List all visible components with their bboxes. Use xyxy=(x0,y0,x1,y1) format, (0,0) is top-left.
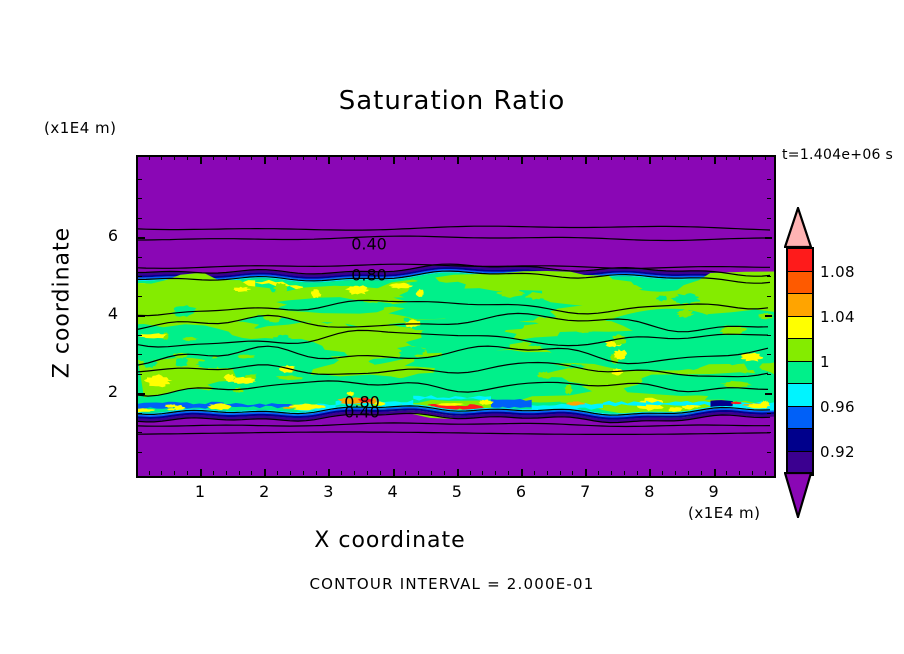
x-axis-minor-tick-top xyxy=(226,156,227,160)
page-title: Saturation Ratio xyxy=(0,86,904,116)
colorbar-band xyxy=(788,339,812,362)
x-axis-minor-tick-top xyxy=(572,156,573,160)
colorbar-tick-label: 0.96 xyxy=(820,398,855,416)
x-axis-minor-tick xyxy=(405,471,406,475)
x-axis-minor-tick-top xyxy=(547,156,548,160)
x-axis-minor-tick xyxy=(752,471,753,475)
x-axis-minor-tick-top xyxy=(624,156,625,160)
x-axis-minor-tick xyxy=(572,471,573,475)
x-axis-tick-label: 7 xyxy=(565,482,605,501)
x-axis-minor-tick-top xyxy=(239,156,240,160)
x-axis-minor-tick-top xyxy=(752,156,753,160)
x-axis-minor-tick xyxy=(495,471,496,475)
x-axis-minor-tick-top xyxy=(534,156,535,160)
y-axis-minor-tick xyxy=(138,257,142,258)
x-axis-minor-tick-top xyxy=(765,156,766,160)
x-axis-minor-tick-top xyxy=(675,156,676,160)
y-axis-minor-tick-right xyxy=(767,218,771,219)
x-axis-minor-tick-top xyxy=(303,156,304,160)
y-axis-minor-tick-right xyxy=(767,257,771,258)
contour-line-label: 0.80 xyxy=(351,266,387,285)
x-axis-tick-top xyxy=(393,157,395,164)
y-axis-minor-tick-right xyxy=(767,354,771,355)
colorbar-band xyxy=(788,407,812,430)
x-axis-minor-tick xyxy=(290,471,291,475)
colorbar-tick-label: 1.04 xyxy=(820,308,855,326)
y-axis-minor-tick-right xyxy=(767,179,771,180)
x-axis-minor-tick xyxy=(508,471,509,475)
x-axis-minor-tick-top xyxy=(174,156,175,160)
colorbar-tick-label: 1 xyxy=(820,353,830,371)
colorbar-band xyxy=(788,249,812,272)
x-axis-minor-tick xyxy=(341,471,342,475)
x-axis-minor-tick-top xyxy=(213,156,214,160)
x-axis-minor-tick xyxy=(187,471,188,475)
x-axis-minor-tick xyxy=(611,471,612,475)
x-axis-tick-top xyxy=(328,157,330,164)
x-axis-minor-tick xyxy=(226,471,227,475)
x-axis-minor-tick xyxy=(547,471,548,475)
x-axis-tick xyxy=(457,469,459,476)
x-axis-minor-tick xyxy=(161,471,162,475)
y-axis-title: Z coordinate xyxy=(50,193,75,413)
x-axis-minor-tick-top xyxy=(251,156,252,160)
x-axis-minor-tick-top xyxy=(316,156,317,160)
x-axis-minor-tick-top xyxy=(611,156,612,160)
y-axis-minor-tick xyxy=(138,374,142,375)
y-axis-minor-tick xyxy=(138,452,142,453)
x-axis-minor-tick xyxy=(675,471,676,475)
x-axis-minor-tick-top xyxy=(560,156,561,160)
x-axis-minor-tick-top xyxy=(161,156,162,160)
y-axis-tick-label: 2 xyxy=(78,382,118,401)
y-axis-minor-tick-right xyxy=(767,374,771,375)
contour-plot-figure: Saturation Ratio (x1E4 m) (x1E4 m) t=1.4… xyxy=(0,0,904,654)
y-axis-minor-tick-right xyxy=(767,198,771,199)
colorbar-band xyxy=(788,452,812,475)
colorbar-bottom-cap xyxy=(784,472,812,518)
x-axis-tick xyxy=(328,469,330,476)
y-axis-tick xyxy=(138,237,145,239)
y-axis-unit-label: (x1E4 m) xyxy=(44,119,117,137)
x-axis-minor-tick xyxy=(534,471,535,475)
x-axis-minor-tick-top xyxy=(637,156,638,160)
colorbar-tick-label: 0.92 xyxy=(820,443,855,461)
x-axis-minor-tick xyxy=(637,471,638,475)
x-axis-minor-tick-top xyxy=(444,156,445,160)
colorbar xyxy=(786,247,814,476)
x-axis-minor-tick-top xyxy=(354,156,355,160)
x-axis-minor-tick-top xyxy=(380,156,381,160)
y-axis-minor-tick-right xyxy=(767,296,771,297)
colorbar-band xyxy=(788,429,812,452)
x-axis-tick-label: 9 xyxy=(694,482,734,501)
x-axis-tick xyxy=(200,469,202,476)
x-axis-minor-tick-top xyxy=(662,156,663,160)
x-axis-minor-tick xyxy=(316,471,317,475)
colorbar-band xyxy=(788,317,812,340)
colorbar-top-cap xyxy=(784,207,812,248)
x-axis-minor-tick-top xyxy=(701,156,702,160)
x-axis-tick-label: 6 xyxy=(501,482,541,501)
x-axis-minor-tick xyxy=(149,471,150,475)
x-axis-tick-label: 2 xyxy=(244,482,284,501)
x-axis-minor-tick xyxy=(418,471,419,475)
x-axis-unit-label: (x1E4 m) xyxy=(688,504,761,522)
x-axis-minor-tick-top xyxy=(290,156,291,160)
x-axis-minor-tick xyxy=(560,471,561,475)
x-axis-minor-tick xyxy=(367,471,368,475)
y-axis-minor-tick xyxy=(138,354,142,355)
y-axis-tick-label: 6 xyxy=(78,226,118,245)
x-axis-minor-tick xyxy=(482,471,483,475)
y-axis-tick xyxy=(138,315,145,317)
x-axis-minor-tick xyxy=(354,471,355,475)
x-axis-tick xyxy=(714,469,716,476)
colorbar-tick-label: 1.08 xyxy=(820,263,855,281)
x-axis-minor-tick-top xyxy=(495,156,496,160)
x-axis-tick xyxy=(585,469,587,476)
x-axis-minor-tick xyxy=(726,471,727,475)
y-axis-minor-tick xyxy=(138,335,142,336)
x-axis-minor-tick-top xyxy=(341,156,342,160)
x-axis-minor-tick xyxy=(444,471,445,475)
y-axis-minor-tick xyxy=(138,179,142,180)
contour-line-label: 0.40 xyxy=(344,403,380,422)
y-axis-tick-right xyxy=(765,315,772,317)
y-axis-minor-tick xyxy=(138,218,142,219)
x-axis-minor-tick xyxy=(277,471,278,475)
contour-field xyxy=(138,157,774,476)
x-axis-tick-top xyxy=(585,157,587,164)
x-axis-minor-tick-top xyxy=(149,156,150,160)
y-axis-minor-tick xyxy=(138,296,142,297)
x-axis-minor-tick xyxy=(739,471,740,475)
x-axis-minor-tick-top xyxy=(431,156,432,160)
x-axis-tick-top xyxy=(200,157,202,164)
y-axis-tick-right xyxy=(765,393,772,395)
x-axis-tick-top xyxy=(521,157,523,164)
x-axis-tick-top xyxy=(264,157,266,164)
x-axis-tick-label: 8 xyxy=(629,482,669,501)
x-axis-tick-top xyxy=(714,157,716,164)
contour-line-label: 0.40 xyxy=(351,235,387,254)
x-axis-tick-label: 1 xyxy=(180,482,220,501)
y-axis-minor-tick xyxy=(138,276,142,277)
x-axis-minor-tick xyxy=(624,471,625,475)
y-axis-tick xyxy=(138,393,145,395)
x-axis-minor-tick-top xyxy=(470,156,471,160)
x-axis-minor-tick xyxy=(765,471,766,475)
y-axis-tick-label: 4 xyxy=(78,304,118,323)
x-axis-minor-tick-top xyxy=(726,156,727,160)
x-axis-title: X coordinate xyxy=(0,528,780,553)
x-axis-tick xyxy=(393,469,395,476)
y-axis-minor-tick-right xyxy=(767,335,771,336)
x-axis-tick xyxy=(264,469,266,476)
x-axis-tick-label: 3 xyxy=(308,482,348,501)
x-axis-tick xyxy=(521,469,523,476)
x-axis-minor-tick xyxy=(598,471,599,475)
x-axis-minor-tick-top xyxy=(598,156,599,160)
y-axis-minor-tick-right xyxy=(767,432,771,433)
colorbar-band xyxy=(788,362,812,385)
x-axis-tick xyxy=(649,469,651,476)
x-axis-minor-tick xyxy=(213,471,214,475)
x-axis-minor-tick-top xyxy=(187,156,188,160)
x-axis-minor-tick xyxy=(470,471,471,475)
x-axis-minor-tick-top xyxy=(688,156,689,160)
y-axis-minor-tick-right xyxy=(767,413,771,414)
colorbar-band xyxy=(788,384,812,407)
y-axis-minor-tick-right xyxy=(767,276,771,277)
x-axis-minor-tick xyxy=(239,471,240,475)
x-axis-tick-label: 4 xyxy=(373,482,413,501)
y-axis-minor-tick xyxy=(138,413,142,414)
y-axis-minor-tick xyxy=(138,432,142,433)
x-axis-minor-tick-top xyxy=(739,156,740,160)
y-axis-tick-right xyxy=(765,237,772,239)
x-axis-minor-tick-top xyxy=(277,156,278,160)
x-axis-minor-tick-top xyxy=(367,156,368,160)
colorbar-band xyxy=(788,272,812,295)
x-axis-tick-top xyxy=(649,157,651,164)
contour-interval-caption: CONTOUR INTERVAL = 2.000E-01 xyxy=(0,575,904,593)
x-axis-minor-tick-top xyxy=(418,156,419,160)
y-axis-minor-tick-right xyxy=(767,452,771,453)
x-axis-minor-tick-top xyxy=(482,156,483,160)
contour-plot-area: 0.400.800.800.40 xyxy=(136,155,776,478)
x-axis-minor-tick xyxy=(431,471,432,475)
colorbar-band xyxy=(788,294,812,317)
x-axis-minor-tick xyxy=(688,471,689,475)
x-axis-tick-top xyxy=(457,157,459,164)
x-axis-tick-label: 5 xyxy=(437,482,477,501)
x-axis-minor-tick-top xyxy=(405,156,406,160)
x-axis-minor-tick xyxy=(662,471,663,475)
x-axis-minor-tick-top xyxy=(508,156,509,160)
timestamp-annotation: t=1.404e+06 s xyxy=(782,147,893,163)
x-axis-minor-tick xyxy=(174,471,175,475)
x-axis-minor-tick xyxy=(701,471,702,475)
x-axis-minor-tick xyxy=(303,471,304,475)
x-axis-minor-tick xyxy=(380,471,381,475)
y-axis-minor-tick xyxy=(138,198,142,199)
x-axis-minor-tick xyxy=(251,471,252,475)
